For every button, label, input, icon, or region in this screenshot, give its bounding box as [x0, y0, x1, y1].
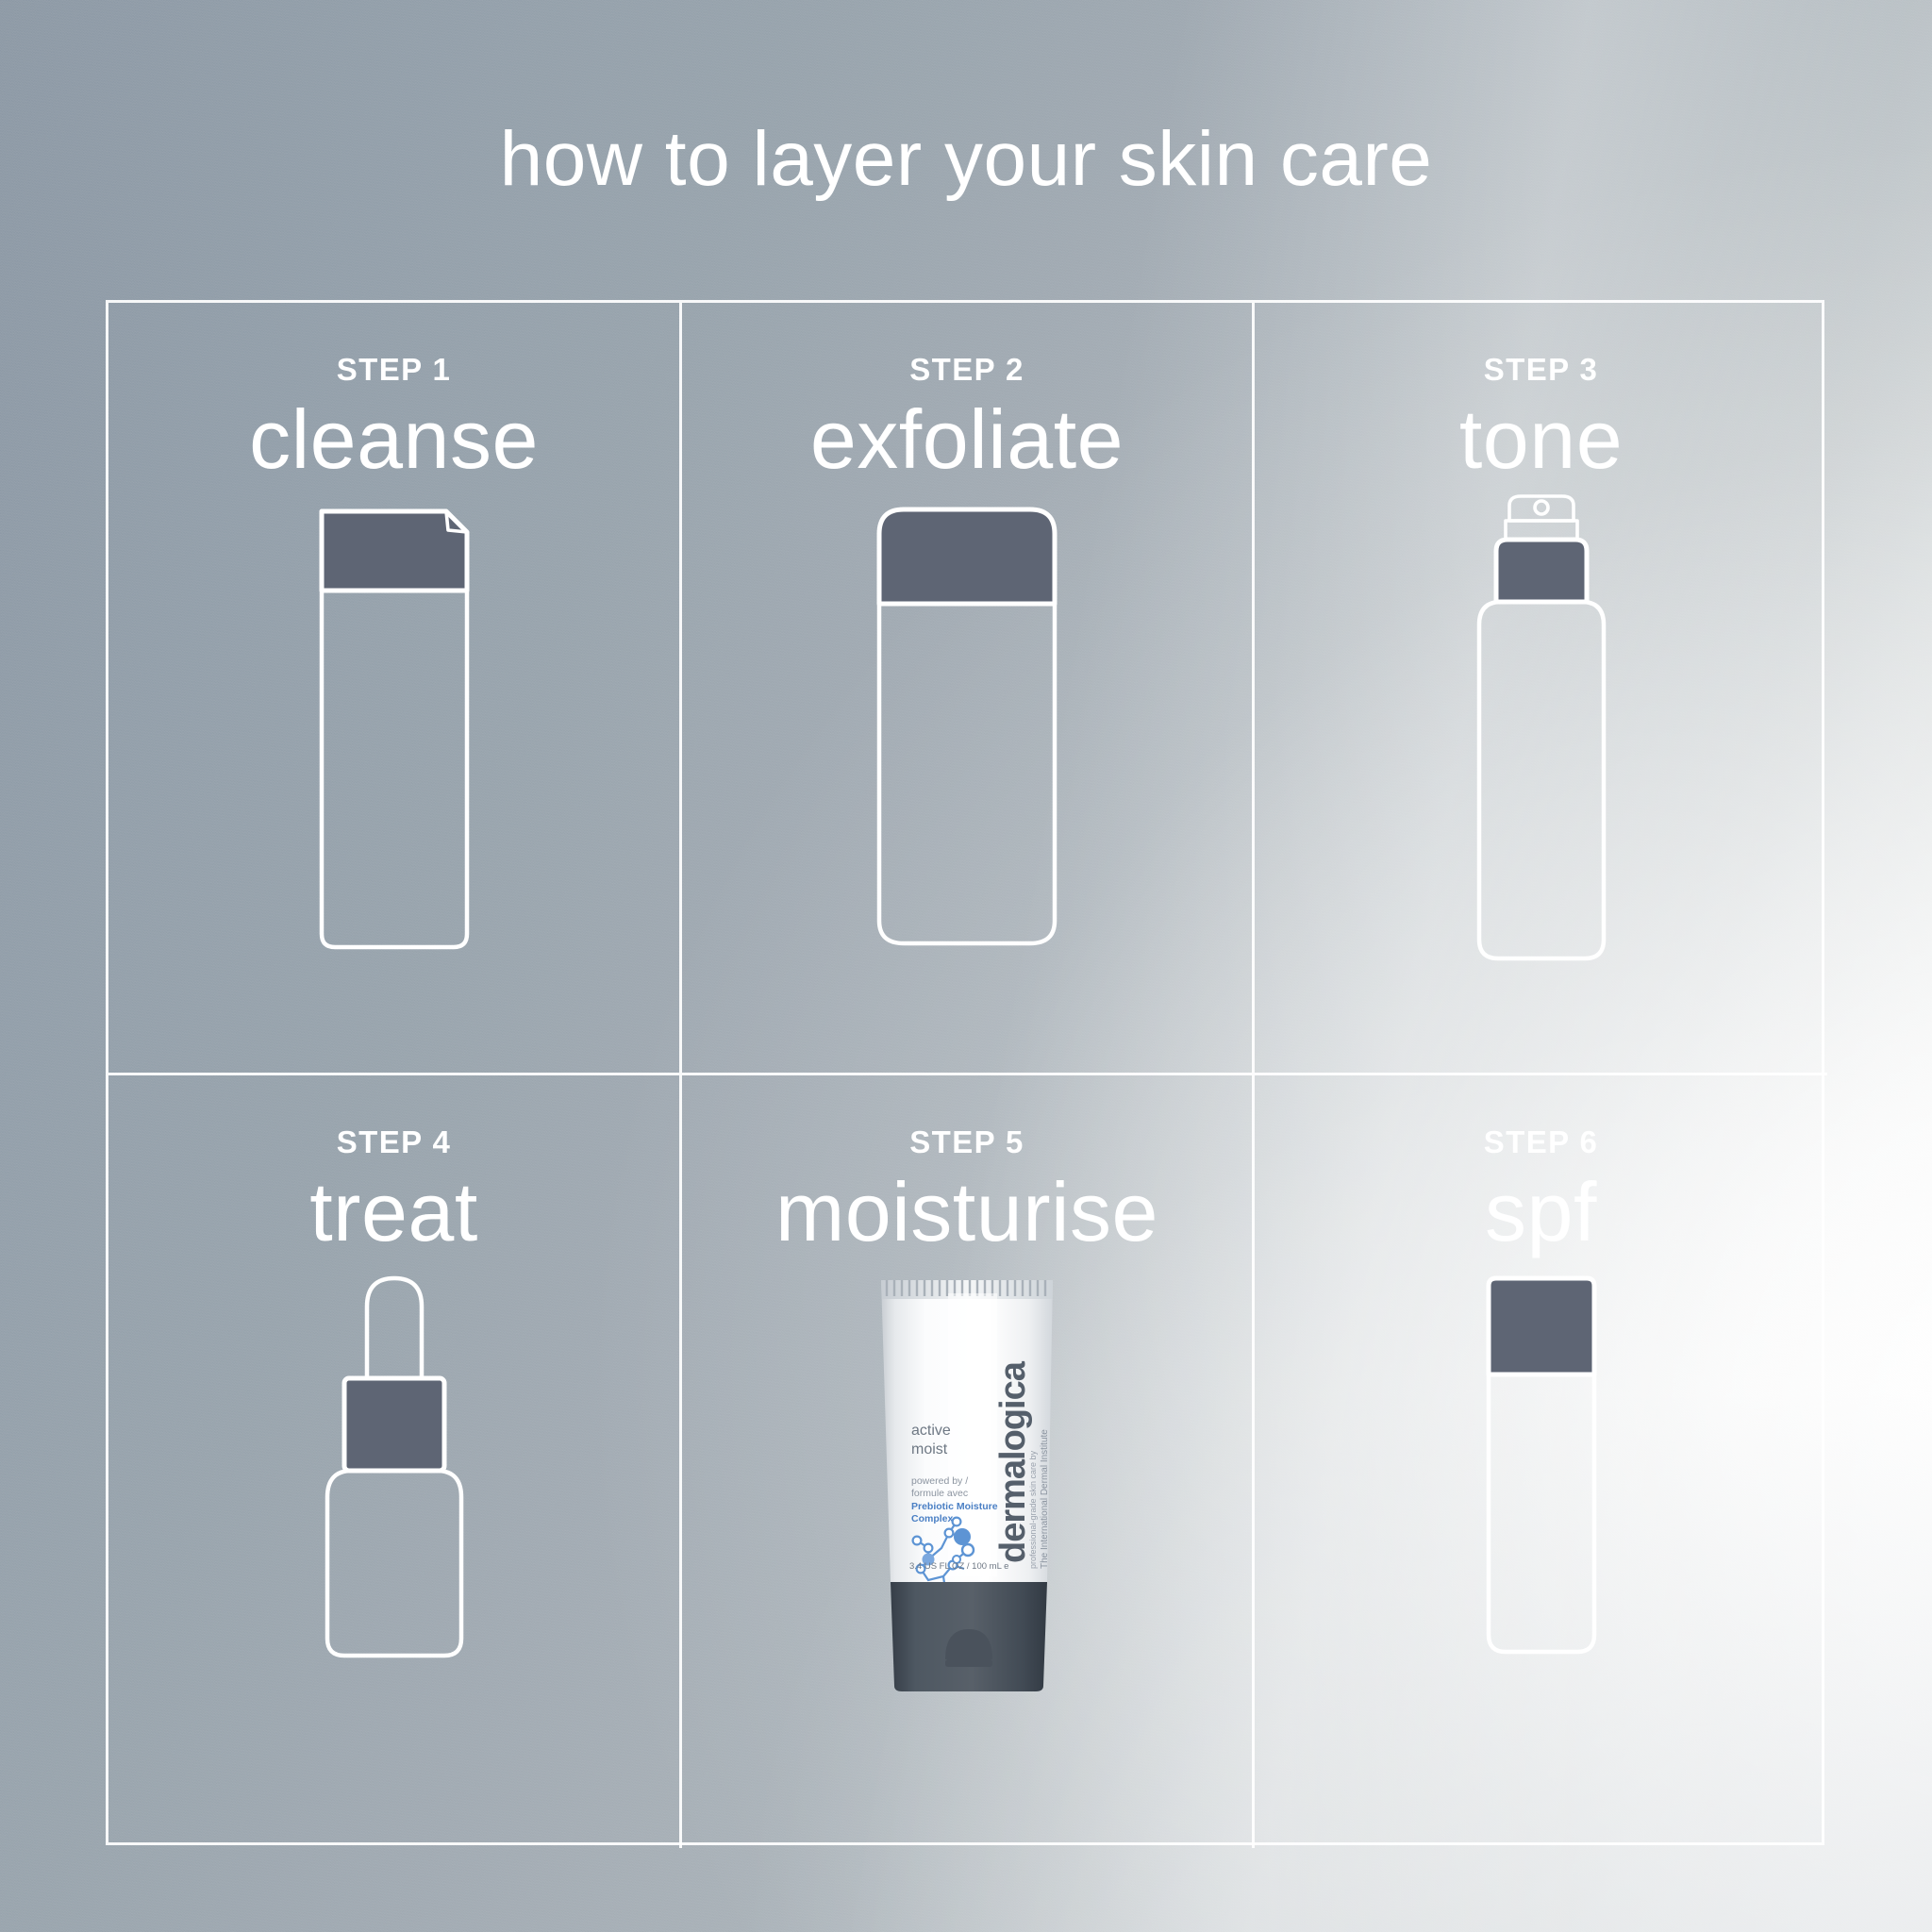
product-name-line1: active: [911, 1423, 951, 1439]
product-complex-line1: Prebiotic Moisture: [911, 1501, 998, 1512]
product-powered-line2: formule avec: [911, 1488, 968, 1499]
tagline-text: professional-grade skin care by: [1028, 1451, 1038, 1570]
step-cell-treat[interactable]: STEP 4 treat: [108, 1075, 682, 1848]
page-title: how to layer your skin care: [0, 121, 1932, 198]
product-art-spf: [1255, 1256, 1827, 1848]
product-art-moisturise: active moist powered by / formule avec P…: [682, 1256, 1252, 1848]
product-name-line2: moist: [911, 1441, 948, 1457]
step-cell-tone[interactable]: STEP 3 tone: [1255, 303, 1827, 1075]
dermalogica-active-moist-tube: active moist powered by / formule avec P…: [858, 1265, 1075, 1699]
institute-text: The International Dermal Institute: [1040, 1429, 1050, 1569]
spf-bottle-icon: [1475, 1265, 1607, 1671]
step-name-3: tone: [1459, 396, 1623, 483]
step-cell-exfoliate[interactable]: STEP 2 exfoliate: [682, 303, 1255, 1075]
step-label-3: STEP 3: [1484, 354, 1599, 385]
step-name-5: moisturise: [775, 1169, 1158, 1256]
step-label-5: STEP 5: [909, 1126, 1024, 1158]
step-cell-spf[interactable]: STEP 6 spf: [1255, 1075, 1827, 1848]
cleanser-bottle-icon: [305, 492, 484, 964]
step-name-4: treat: [309, 1169, 478, 1256]
product-complex-line2: Complex: [911, 1513, 954, 1524]
product-powered-line1: powered by /: [911, 1475, 968, 1487]
steps-grid: STEP 1 cleanse STEP 2 exfoliate STEP 3 t: [106, 300, 1824, 1845]
step-cell-cleanse[interactable]: STEP 1 cleanse: [108, 303, 682, 1075]
step-label-1: STEP 1: [337, 354, 452, 385]
product-art-tone: [1255, 483, 1827, 1073]
step-label-6: STEP 6: [1484, 1126, 1599, 1158]
step-label-4: STEP 4: [337, 1126, 452, 1158]
step-cell-moisturise[interactable]: STEP 5 moisturise: [682, 1075, 1255, 1848]
step-name-6: spf: [1485, 1169, 1597, 1256]
exfoliant-tube-icon: [868, 492, 1066, 962]
step-name-1: cleanse: [249, 396, 539, 483]
toner-spray-bottle-icon: [1457, 492, 1626, 991]
product-art-cleanse: [108, 483, 679, 1073]
step-label-2: STEP 2: [909, 354, 1024, 385]
step-name-2: exfoliate: [810, 396, 1124, 483]
product-art-exfoliate: [682, 483, 1252, 1073]
brand-wordmark: dermalogica: [993, 1361, 1033, 1564]
serum-dropper-bottle-icon: [305, 1265, 484, 1671]
volume-text: 3.4 US FL OZ / 100 mL e: [909, 1561, 1008, 1572]
product-art-treat: [108, 1256, 679, 1848]
